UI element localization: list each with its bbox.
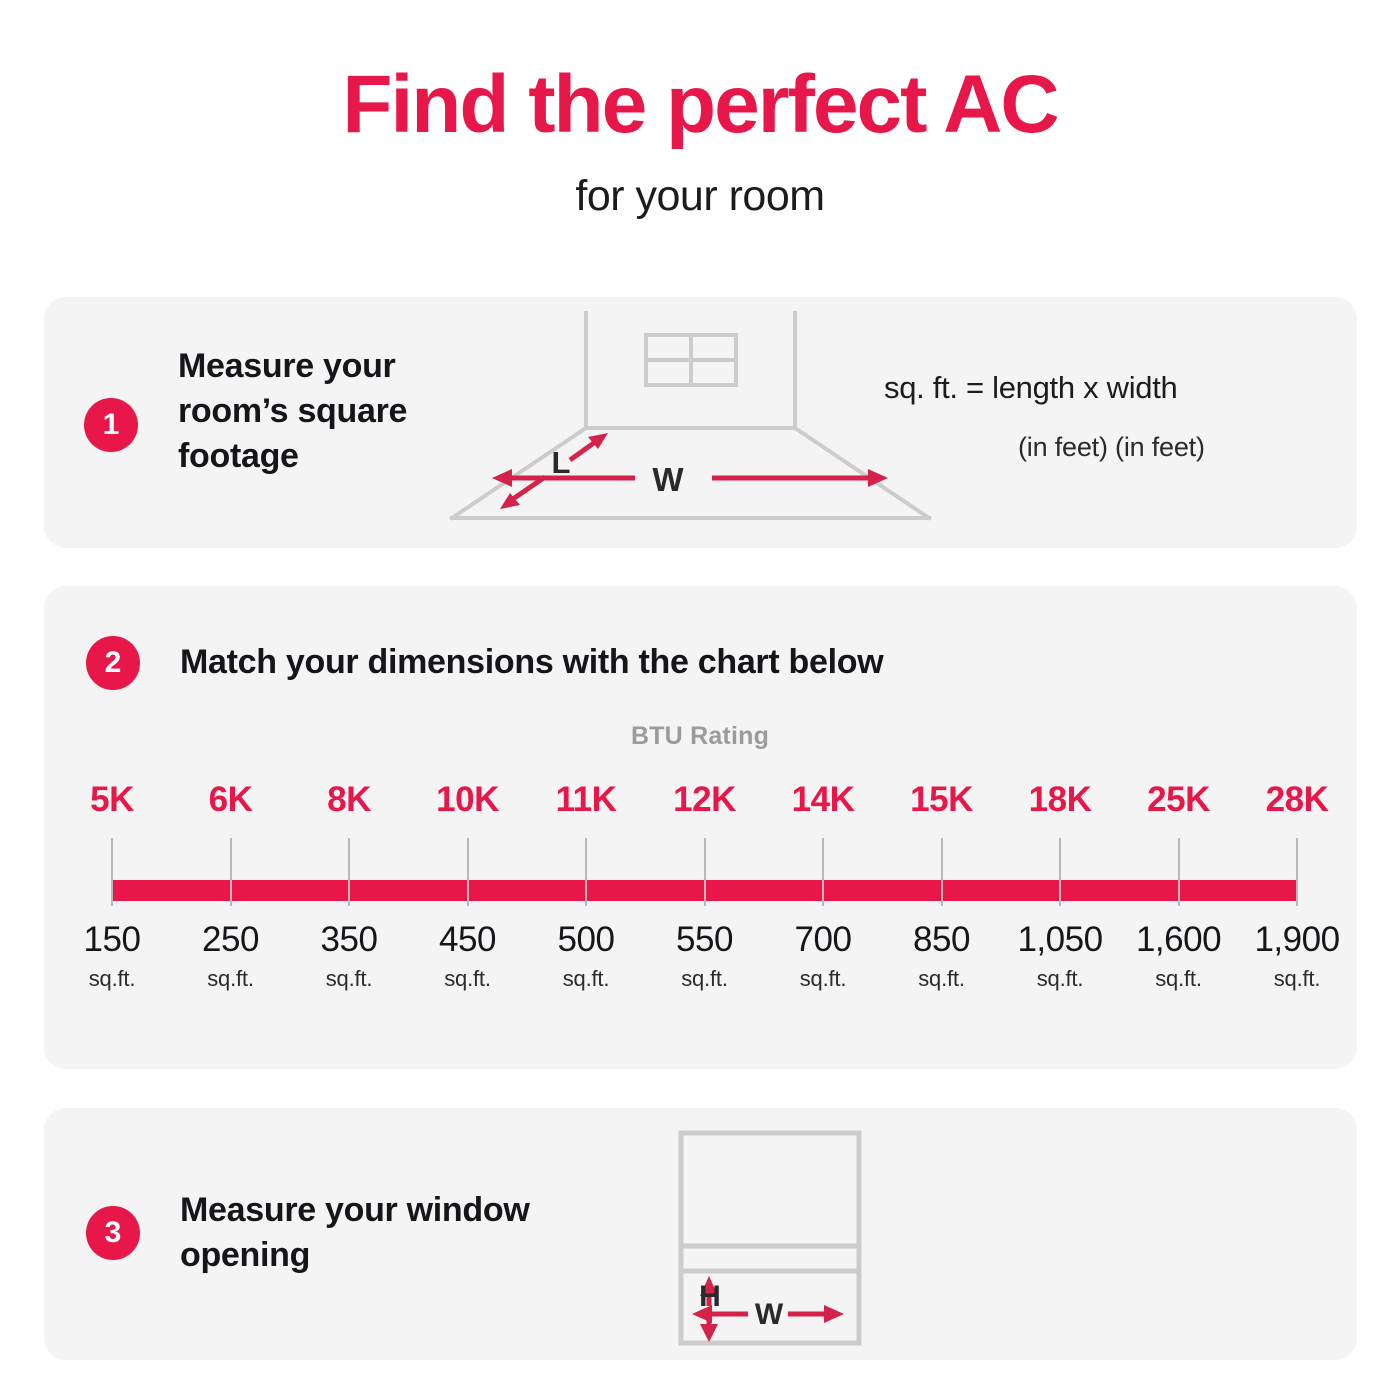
sqft-unit-label: sq.ft.: [1120, 968, 1238, 990]
step-title-3: Measure your window opening: [180, 1188, 600, 1278]
btu-scale-column: 14K700sq.ft.: [764, 782, 882, 817]
svg-text:W: W: [755, 1298, 784, 1331]
btu-scale-column: 11K500sq.ft.: [527, 782, 645, 817]
svg-text:H: H: [699, 1280, 721, 1313]
scale-tick: [1178, 838, 1180, 906]
btu-rating-label: 8K: [290, 782, 408, 817]
sqft-formula-units: (in feet) (in feet): [1018, 432, 1205, 463]
step-number-badge-2: 2: [86, 636, 140, 690]
sqft-unit-label: sq.ft.: [527, 968, 645, 990]
btu-scale-column: 10K450sq.ft.: [409, 782, 527, 817]
btu-rating-label: 6K: [172, 782, 290, 817]
sqft-unit-label: sq.ft.: [646, 968, 764, 990]
header: Find the perfect AC for your room: [0, 0, 1400, 221]
step-number-badge-1: 1: [84, 398, 138, 452]
infographic-page: Find the perfect AC for your room 1 Meas…: [0, 0, 1400, 1400]
sqft-value: 1,600: [1120, 922, 1238, 957]
chart-heading: BTU Rating: [0, 722, 1400, 751]
sqft-unit-label: sq.ft.: [53, 968, 171, 990]
btu-scale-column: 5K150sq.ft.: [53, 782, 171, 817]
sqft-value: 450: [409, 922, 527, 957]
room-perspective-diagram: W L: [440, 305, 940, 535]
btu-scale-column: 25K1,600sq.ft.: [1120, 782, 1238, 817]
scale-tick: [467, 838, 469, 906]
btu-rating-label: 14K: [764, 782, 882, 817]
sqft-value: 150: [53, 922, 171, 957]
scale-tick: [704, 838, 706, 906]
window-opening-diagram: H W: [676, 1128, 866, 1348]
sqft-value: 550: [646, 922, 764, 957]
step-title-1: Measure your room’s square footage: [178, 344, 478, 480]
sqft-value: 500: [527, 922, 645, 957]
sqft-unit-label: sq.ft.: [1001, 968, 1119, 990]
scale-tick: [822, 838, 824, 906]
btu-scale-column: 8K350sq.ft.: [290, 782, 408, 817]
sqft-unit-label: sq.ft.: [883, 968, 1001, 990]
btu-rating-label: 5K: [53, 782, 171, 817]
sqft-value: 1,050: [1001, 922, 1119, 957]
sqft-unit-label: sq.ft.: [1238, 968, 1356, 990]
btu-scale-column: 15K850sq.ft.: [883, 782, 1001, 817]
btu-scale-column: 18K1,050sq.ft.: [1001, 782, 1119, 817]
btu-rating-label: 10K: [409, 782, 527, 817]
step-number-badge-3: 3: [86, 1206, 140, 1260]
scale-tick: [348, 838, 350, 906]
sqft-value: 1,900: [1238, 922, 1356, 957]
sqft-unit-label: sq.ft.: [290, 968, 408, 990]
btu-scale: 5K150sq.ft.6K250sq.ft.8K350sq.ft.10K450s…: [85, 782, 1325, 1012]
scale-tick: [111, 838, 113, 906]
svg-text:W: W: [652, 461, 684, 498]
sqft-value: 850: [883, 922, 1001, 957]
btu-rating-label: 12K: [646, 782, 764, 817]
scale-tick: [941, 838, 943, 906]
btu-scale-column: 12K550sq.ft.: [646, 782, 764, 817]
step-title-2: Match your dimensions with the chart bel…: [180, 640, 1180, 685]
svg-text:L: L: [552, 445, 571, 480]
btu-scale-column: 6K250sq.ft.: [172, 782, 290, 817]
sqft-value: 350: [290, 922, 408, 957]
sqft-unit-label: sq.ft.: [764, 968, 882, 990]
sqft-value: 700: [764, 922, 882, 957]
page-subtitle: for your room: [0, 172, 1400, 221]
btu-rating-label: 11K: [527, 782, 645, 817]
scale-tick: [1296, 838, 1298, 906]
scale-tick: [585, 838, 587, 906]
btu-scale-column: 28K1,900sq.ft.: [1238, 782, 1356, 817]
page-title: Find the perfect AC: [0, 64, 1400, 146]
sqft-formula: sq. ft. = length x width: [884, 370, 1178, 406]
btu-rating-label: 18K: [1001, 782, 1119, 817]
scale-tick: [1059, 838, 1061, 906]
sqft-unit-label: sq.ft.: [172, 968, 290, 990]
btu-rating-label: 15K: [883, 782, 1001, 817]
btu-rating-label: 28K: [1238, 782, 1356, 817]
sqft-value: 250: [172, 922, 290, 957]
btu-rating-label: 25K: [1120, 782, 1238, 817]
scale-tick: [230, 838, 232, 906]
sqft-unit-label: sq.ft.: [409, 968, 527, 990]
